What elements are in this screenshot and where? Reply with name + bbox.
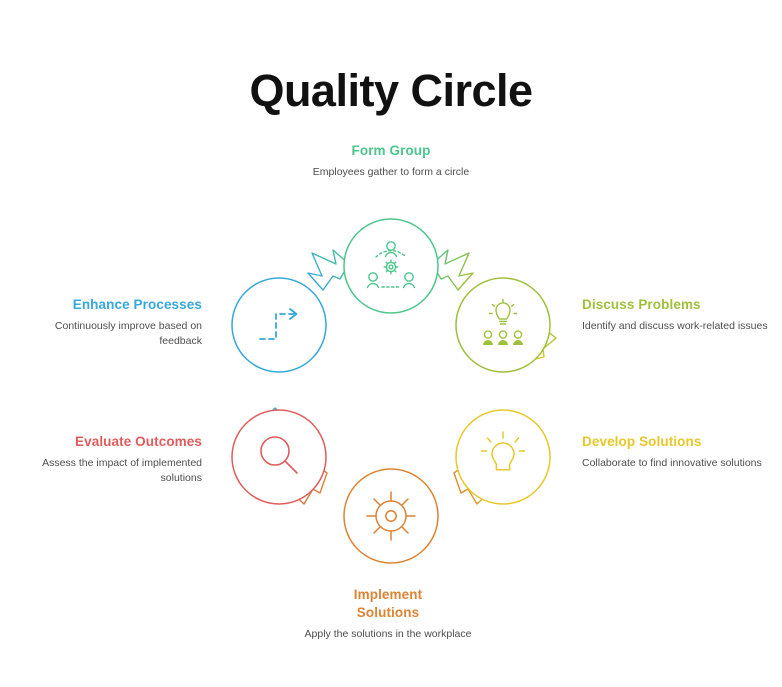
- label-enhance-processes-heading: Enhance Processes: [35, 296, 202, 314]
- node-implement-solutions[interactable]: [344, 469, 438, 563]
- label-develop-solutions: Develop Solutions Collaborate to find in…: [582, 433, 777, 471]
- label-develop-solutions-heading: Develop Solutions: [582, 433, 777, 451]
- label-enhance-processes: Enhance Processes Continuously improve b…: [35, 296, 202, 350]
- label-form-group-description: Employees gather to form a circle: [271, 165, 511, 180]
- node-form-group[interactable]: [344, 219, 438, 313]
- label-evaluate-outcomes-heading: Evaluate Outcomes: [35, 433, 202, 451]
- label-enhance-processes-description: Continuously improve based on feedback: [35, 319, 202, 349]
- label-implement-solutions-description: Apply the solutions in the workplace: [268, 627, 508, 642]
- page-title: Quality Circle: [0, 66, 782, 116]
- quality-circle-diagram: [196, 198, 586, 588]
- label-develop-solutions-description: Collaborate to find innovative solutions: [582, 456, 777, 471]
- arrow-enhance-processes-to-form-group: [308, 250, 349, 290]
- label-form-group-heading: Form Group: [271, 142, 511, 160]
- label-implement-solutions: Implement Solutions Apply the solutions …: [268, 586, 508, 643]
- label-discuss-problems: Discuss Problems Identify and discuss wo…: [582, 296, 777, 334]
- node-develop-solutions[interactable]: [456, 410, 550, 504]
- node-discuss-problems[interactable]: [456, 278, 550, 372]
- label-implement-solutions-heading: Implement Solutions: [328, 586, 448, 622]
- label-discuss-problems-description: Identify and discuss work-related issues: [582, 319, 777, 334]
- node-enhance-processes[interactable]: [232, 278, 326, 372]
- label-discuss-problems-heading: Discuss Problems: [582, 296, 777, 314]
- node-evaluate-outcomes[interactable]: [232, 410, 326, 504]
- label-evaluate-outcomes-description: Assess the impact of implemented solutio…: [35, 456, 202, 486]
- label-evaluate-outcomes: Evaluate Outcomes Assess the impact of i…: [35, 433, 202, 487]
- label-form-group: Form Group Employees gather to form a ci…: [271, 142, 511, 180]
